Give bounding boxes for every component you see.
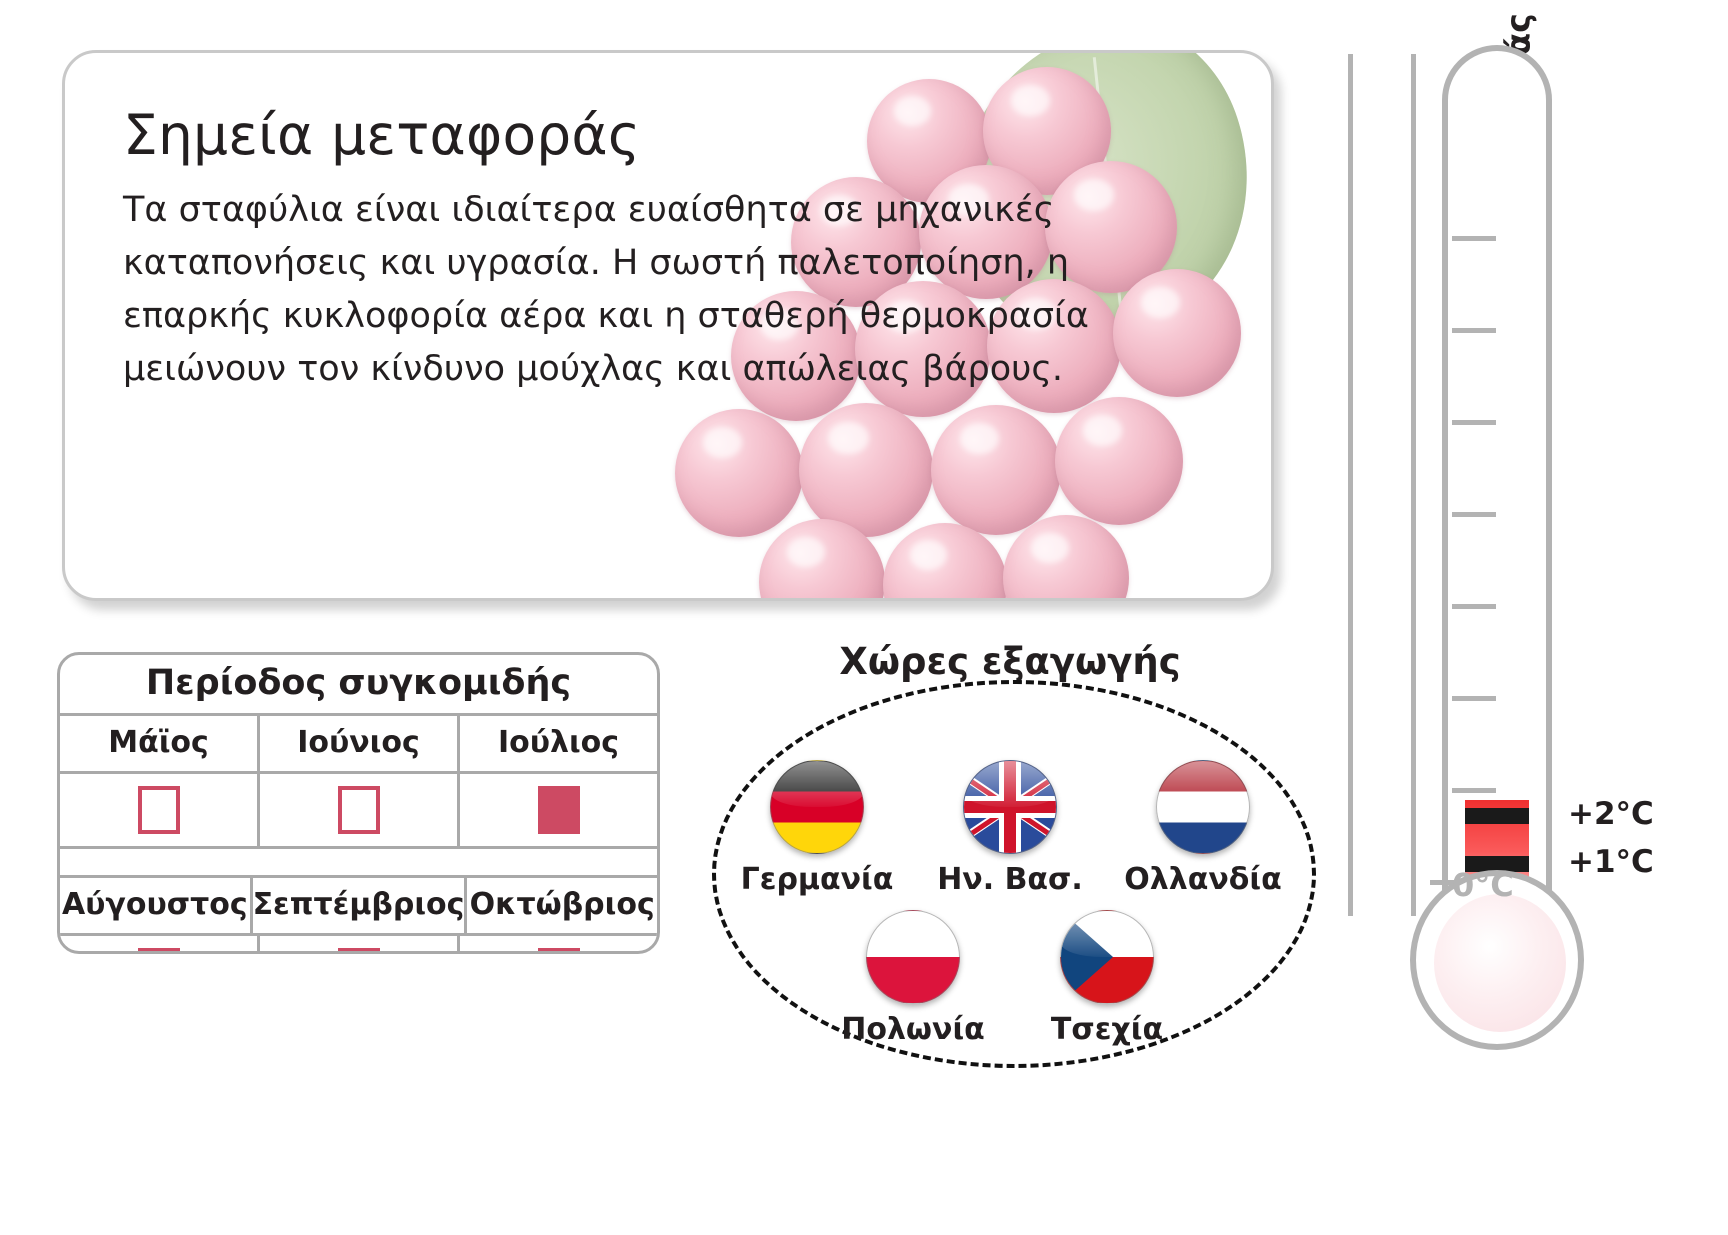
harvest-checkbox[interactable]	[138, 786, 180, 834]
transport-temperature-thermometer: Προτεινόμενη θερμοκρασία μεταφοράς 0°C +…	[1330, 40, 1660, 1050]
infographic-canvas: Σημεία μεταφοράς Τα σταφύλια είναι ιδιαί…	[0, 0, 1728, 1235]
poland-flag-icon	[866, 910, 960, 1004]
harvest-header-row-2: Αύγουστος Σεπτέμβριος Οκτώβριος	[60, 878, 657, 933]
thermometer-zero-label: 0°C	[1452, 866, 1514, 904]
country-label: Πολωνία	[828, 1012, 998, 1047]
card-text-block: Σημεία μεταφοράς Τα σταφύλια είναι ιδιαί…	[65, 53, 825, 598]
czechia-flag-icon	[1060, 910, 1154, 1004]
harvest-checkbox[interactable]	[538, 786, 580, 834]
month-cell	[460, 936, 657, 954]
thermometer-tick	[1452, 328, 1496, 333]
country-united-kingdom[interactable]: Ην. Βασ.	[925, 760, 1095, 897]
transport-notes-card: Σημεία μεταφοράς Τα σταφύλια είναι ιδιαί…	[62, 50, 1274, 601]
month-cell	[260, 774, 460, 846]
country-germany[interactable]: Γερμανία	[732, 760, 902, 897]
country-netherlands[interactable]: Ολλανδία	[1118, 760, 1288, 897]
harvest-marker-row-1	[60, 774, 657, 846]
month-cell	[460, 774, 657, 846]
harvest-period-table: Περίοδος συγκομιδής Μάϊος Ιούνιος Ιούλιο…	[57, 652, 660, 954]
country-label: Ην. Βασ.	[925, 862, 1095, 897]
country-poland[interactable]: Πολωνία	[828, 910, 998, 1047]
month-label: Αύγουστος	[60, 878, 253, 933]
harvest-header-row-1: Μάϊος Ιούνιος Ιούλιος	[60, 716, 657, 771]
temperature-label-plus2: +2°C	[1568, 796, 1654, 832]
netherlands-flag-icon	[1156, 760, 1250, 854]
harvest-marker-row-2	[60, 936, 657, 954]
united-kingdom-flag-icon	[963, 760, 1057, 854]
thermometer-tube-inner	[1348, 54, 1416, 916]
export-title: Χώρες εξαγωγής	[700, 640, 1320, 683]
thermometer-band-plus2	[1465, 808, 1529, 824]
month-cell	[60, 774, 260, 846]
country-label: Γερμανία	[732, 862, 902, 897]
page-title: Σημεία μεταφοράς	[123, 105, 825, 166]
card-body-text: Τα σταφύλια είναι ιδιαίτερα ευαίσθητα σε…	[123, 184, 1213, 397]
month-label: Ιούνιος	[260, 716, 460, 771]
thermometer-tick	[1452, 604, 1496, 609]
thermometer-tick	[1452, 420, 1496, 425]
country-label: Ολλανδία	[1118, 862, 1288, 897]
thermometer-bulb-fill	[1434, 894, 1566, 1032]
month-cell	[260, 936, 460, 954]
country-label: Τσεχία	[1022, 1012, 1192, 1047]
thermometer-tick	[1452, 696, 1496, 701]
country-czechia[interactable]: Τσεχία	[1022, 910, 1192, 1047]
temperature-label-plus1: +1°C	[1568, 844, 1654, 880]
thermometer-tick	[1452, 788, 1496, 793]
month-label: Μάϊος	[60, 716, 260, 771]
harvest-title: Περίοδος συγκομιδής	[60, 655, 657, 713]
thermometer-tick	[1452, 512, 1496, 517]
month-label: Οκτώβριος	[467, 878, 657, 933]
harvest-checkbox[interactable]	[338, 948, 380, 954]
harvest-checkbox[interactable]	[138, 948, 180, 954]
export-countries-group: Χώρες εξαγωγής Γερμανία Ην. Βασ. Ολλανδί…	[700, 640, 1320, 1080]
harvest-checkbox[interactable]	[538, 948, 580, 954]
germany-flag-icon	[770, 760, 864, 854]
harvest-checkbox[interactable]	[338, 786, 380, 834]
month-cell	[60, 936, 260, 954]
month-label: Ιούλιος	[460, 716, 657, 771]
month-label: Σεπτέμβριος	[253, 878, 468, 933]
thermometer-tick	[1452, 236, 1496, 241]
table-spacer-row	[60, 849, 657, 875]
